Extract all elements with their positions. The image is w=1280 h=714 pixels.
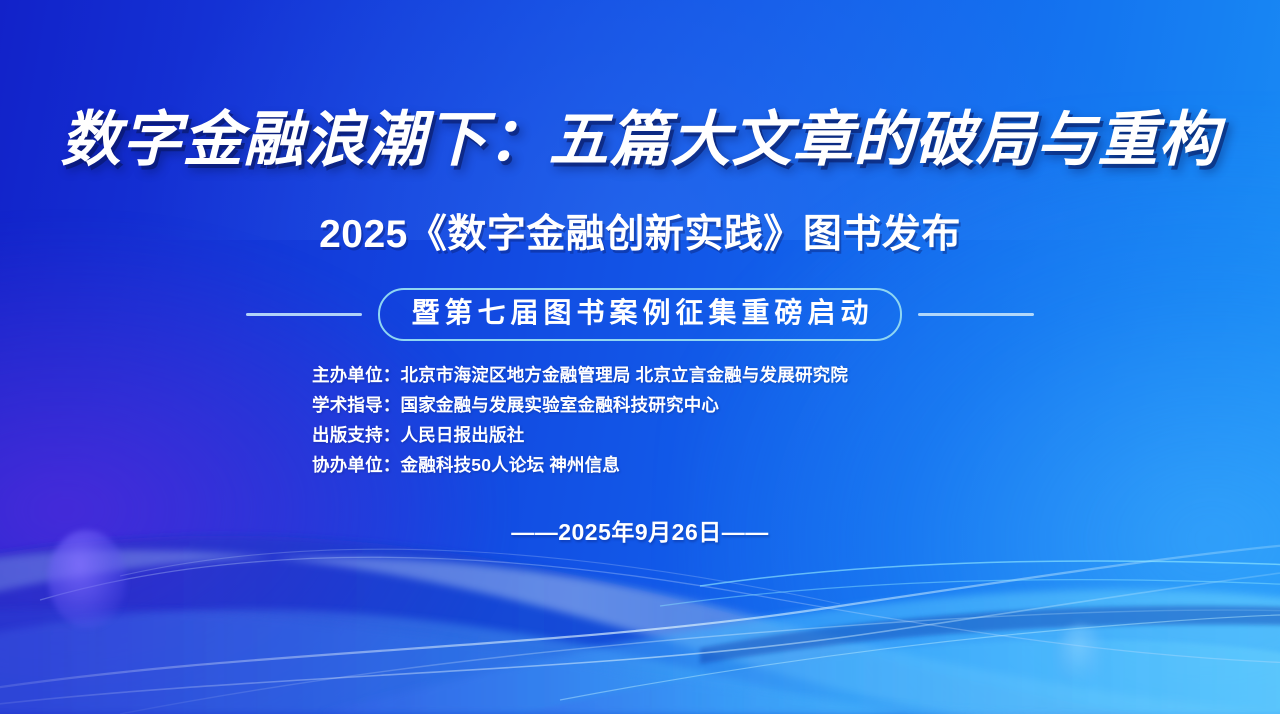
credit-line-publishing-support: 出版支持：人民日报出版社: [312, 420, 848, 450]
credit-line-host: 主办单位：北京市海淀区地方金融管理局 北京立言金融与发展研究院: [312, 360, 848, 390]
subtitle: 2025《数字金融创新实践》图书发布: [0, 211, 1280, 259]
event-date: ——2025年9月26日——: [0, 517, 1280, 547]
credits-block: 主办单位：北京市海淀区地方金融管理局 北京立言金融与发展研究院 学术指导：国家金…: [312, 360, 848, 480]
badge-row: 暨第七届图书案例征集重磅启动: [0, 288, 1280, 341]
page-title: 数字金融浪潮下：五篇大文章的破局与重构: [0, 105, 1280, 175]
credit-line-co-organizer: 协办单位：金融科技50人论坛 神州信息: [312, 450, 848, 480]
status-badge: 暨第七届图书案例征集重磅启动: [378, 288, 901, 341]
credit-line-academic-guidance: 学术指导：国家金融与发展实验室金融科技研究中心: [312, 390, 848, 420]
event-poster: 数字金融浪潮下：五篇大文章的破局与重构 2025《数字金融创新实践》图书发布 暨…: [0, 0, 1280, 714]
divider-line-right: [918, 313, 1034, 316]
divider-line-left: [246, 313, 362, 316]
